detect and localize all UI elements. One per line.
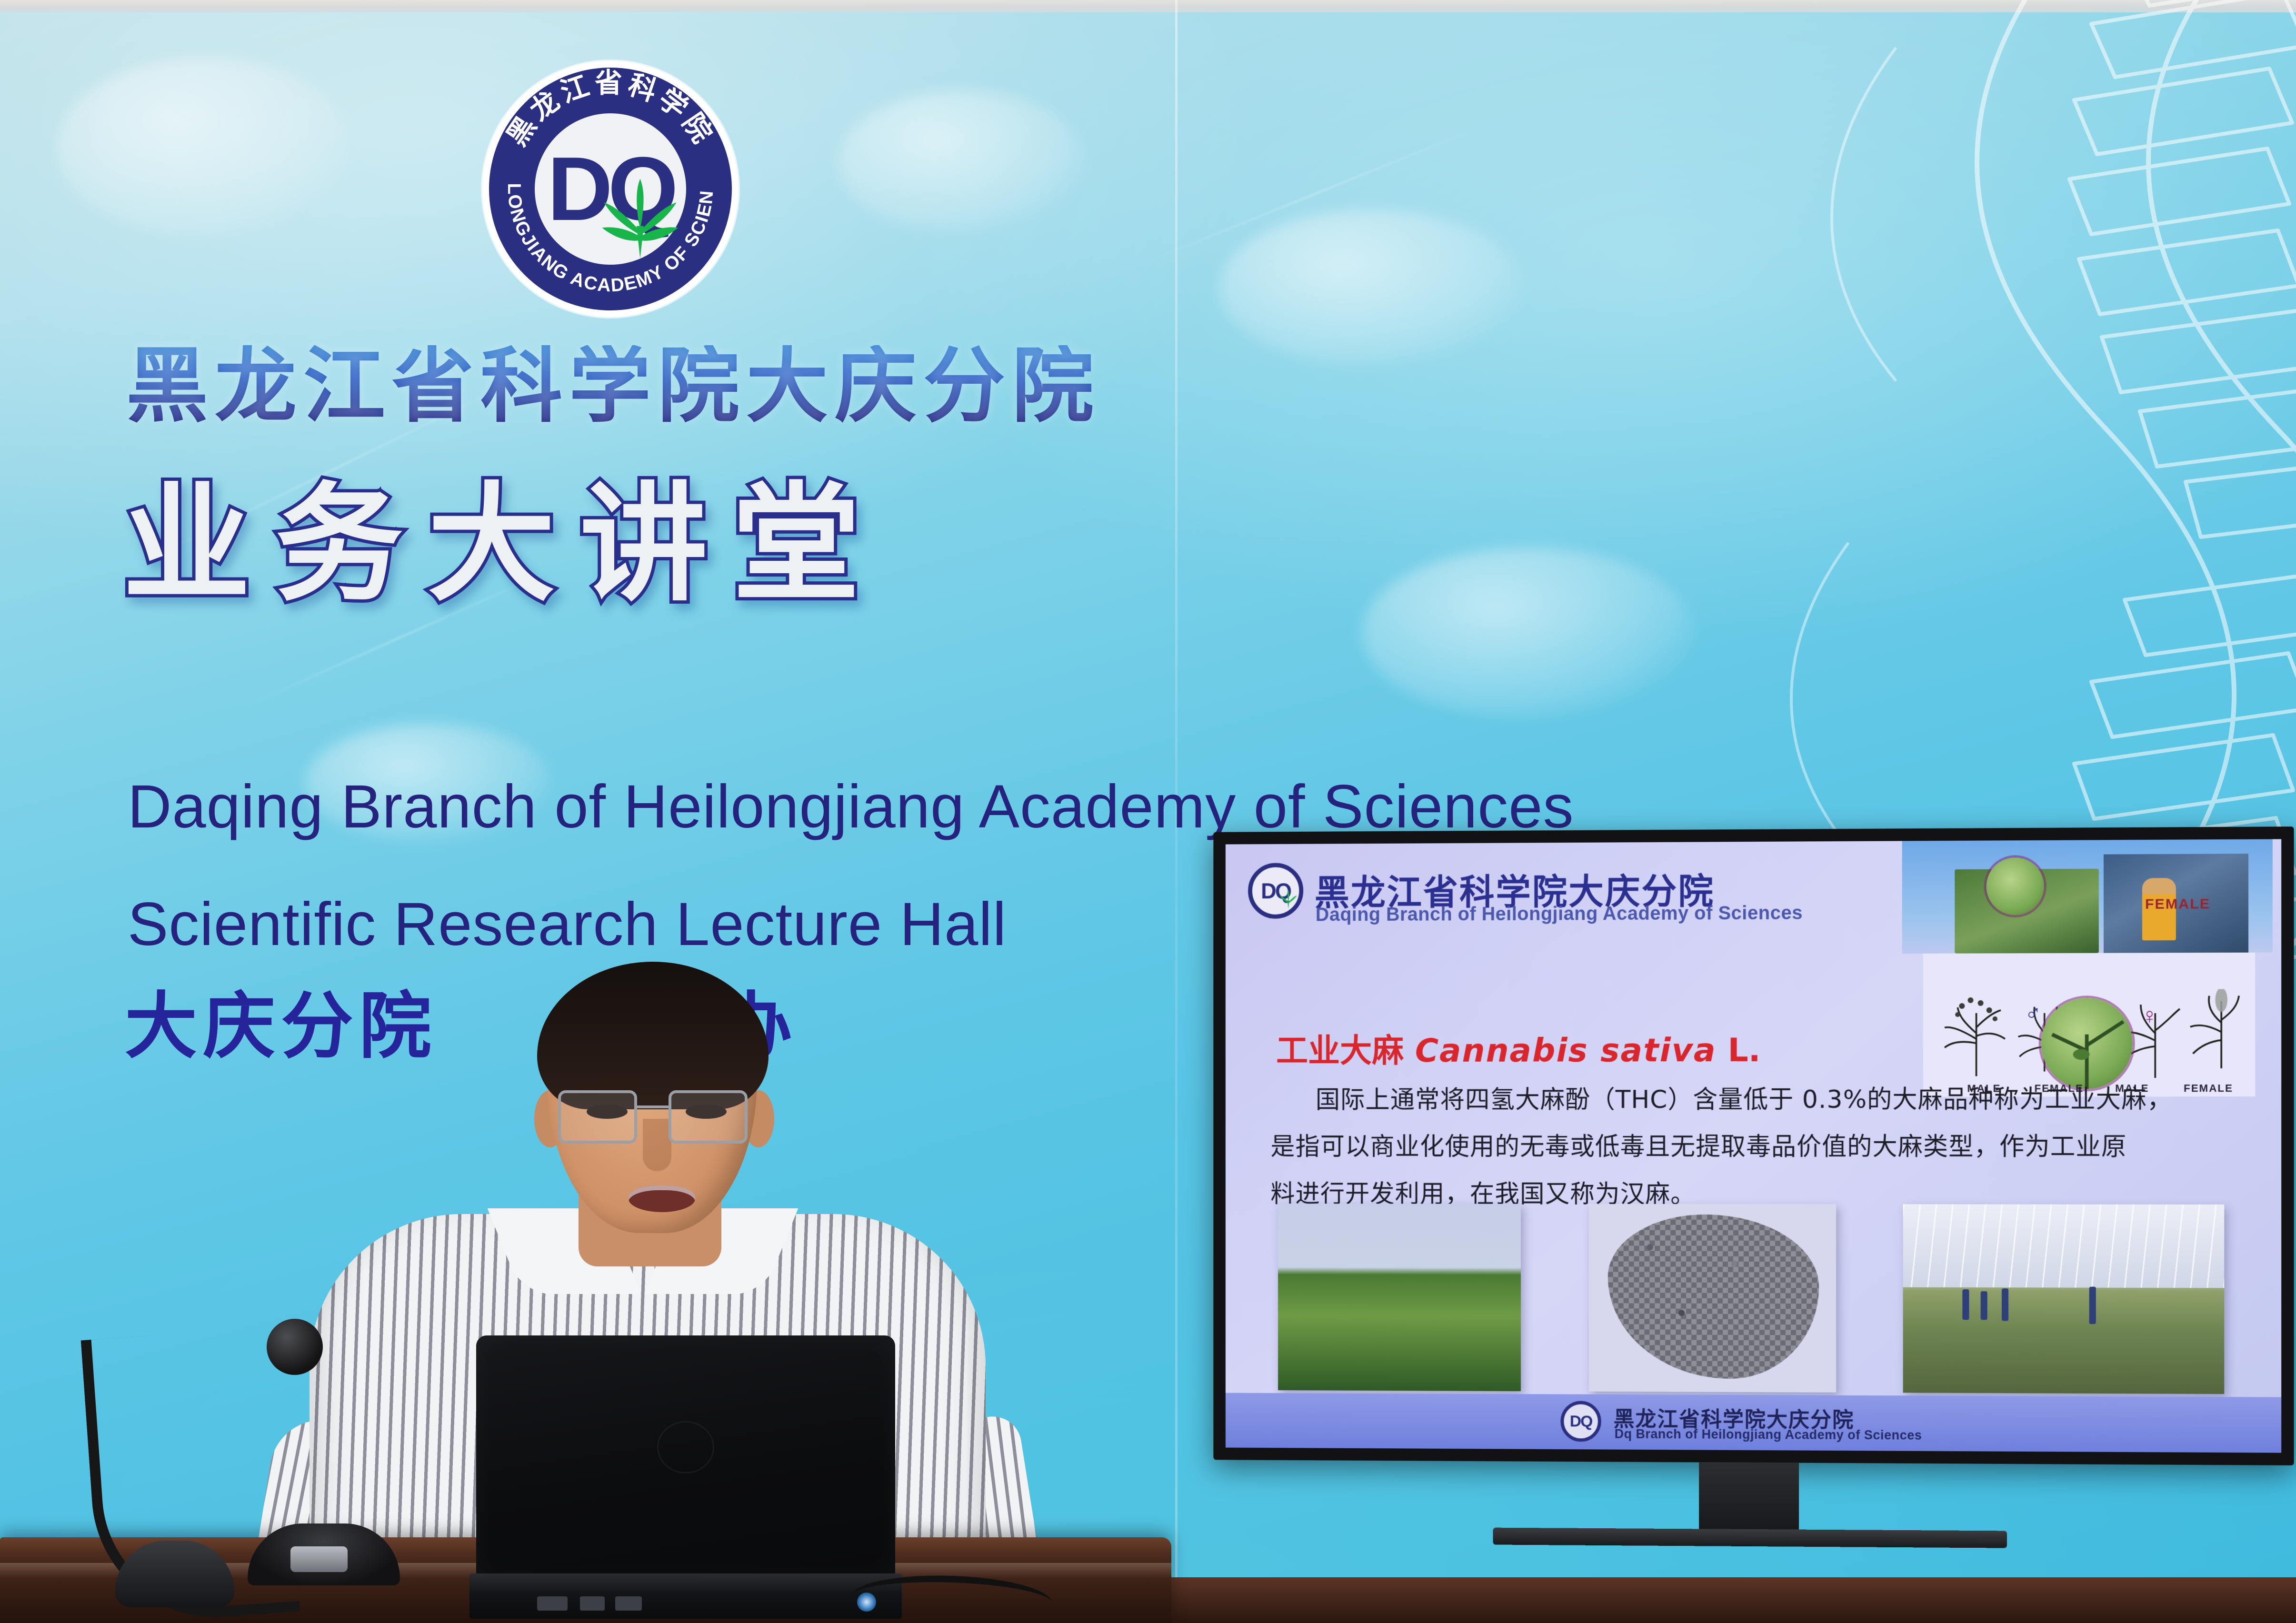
slide-logo: DQ: [1248, 863, 1303, 919]
slide-body-text: 国际上通常将四氢大麻酚（THC）含量低于 0.3%的大麻品种称为工业大麻， 是指…: [1270, 1078, 2251, 1222]
presentation-slide: DQ 黑龙江省科学院大庆分院 Daqing Branch of Heilongj…: [1226, 839, 2281, 1453]
diagram-female-plant-right: [2187, 989, 2255, 1078]
lecture-photo-scene: 黑龙江省科学院 HEILONGJIANG ACADEMY OF SCIENCES…: [0, 0, 2296, 1623]
diagram-top-label: FEMALE: [2145, 896, 2210, 913]
warehouse-worker: [2089, 1287, 2096, 1324]
desk-surface-right: [1143, 1577, 2296, 1623]
laptop-usb-port: [615, 1596, 642, 1611]
slide-photo-strip: [1278, 1204, 2225, 1394]
backdrop-bokeh: [838, 90, 1086, 233]
tv-stand-base: [1493, 1528, 2007, 1548]
female-symbol-icon: ♀: [2141, 1005, 2158, 1026]
laptop-logo-badge: [657, 1421, 714, 1474]
laptop-lid: [476, 1335, 895, 1578]
banner-main-title: 业务大讲堂: [123, 481, 885, 608]
slide-footer-logo: DQ: [1560, 1401, 1601, 1442]
warehouse-worker: [1981, 1291, 1987, 1320]
hemp-field-photo: [1278, 1204, 1521, 1391]
slide-title-authority: L.: [1727, 1032, 1760, 1069]
backdrop-bokeh: [57, 57, 352, 238]
laptop-ethernet-port: [537, 1596, 568, 1611]
slide-body-line-2: 是指可以商业化使用的无毒或低毒且无提取毒品价值的大麻类型，作为工业原: [1270, 1126, 2251, 1169]
slide-title: 工业大麻 Cannabis sativa L.: [1276, 1024, 1760, 1071]
slide-footer: DQ 黑龙江省科学院大庆分院 Dq Branch of Heilongjiang…: [1226, 1393, 2281, 1453]
diagram-center-magnifier: [2041, 998, 2133, 1089]
eyeglass-lens-right: [669, 1090, 748, 1144]
hemp-seeds-photo: [1589, 1204, 1836, 1393]
male-symbol-icon: ♂: [2025, 1001, 2041, 1023]
slide-body-line-1: 国际上通常将四氢大麻酚（THC）含量低于 0.3%的大麻品种称为工业大麻，: [1270, 1078, 2251, 1122]
warehouse-roof: [1903, 1204, 2225, 1288]
banner-english-line-1: Daqing Branch of Heilongjiang Academy of…: [128, 777, 1574, 837]
slide-footer-english: Dq Branch of Heilongjiang Academy of Sci…: [1615, 1427, 1922, 1443]
laptop[interactable]: [476, 1335, 895, 1621]
backdrop-bokeh: [1219, 209, 1524, 367]
slide-header-english: Daqing Branch of Heilongjiang Academy of…: [1316, 903, 1803, 926]
presentation-tv: DQ 黑龙江省科学院大庆分院 Daqing Branch of Heilongj…: [1213, 826, 2294, 1465]
microphone-switch[interactable]: [290, 1546, 348, 1572]
banner-english-line-2: Scientific Research Lecture Hall: [128, 894, 1007, 955]
microphone-capsule: [267, 1319, 323, 1375]
cannabis-leaf-icon: [595, 175, 686, 251]
hemp-drying-warehouse-photo: [1903, 1204, 2225, 1394]
seed-pile: [1608, 1215, 1819, 1379]
warehouse-worker: [1962, 1289, 1969, 1320]
slide-title-chinese: 工业大麻: [1276, 1032, 1404, 1070]
laptop-hinge: [469, 1573, 902, 1619]
academy-logo-badge: 黑龙江省科学院 HEILONGJIANG ACADEMY OF SCIENCES…: [482, 61, 739, 317]
diagram-male-plant: [1940, 992, 2012, 1078]
speaker-mouth: [629, 1185, 695, 1212]
slide-footer-monogram: DQ: [1564, 1404, 1598, 1438]
eyeglass-lens-left: [558, 1090, 637, 1144]
cannabis-sex-diagram: FEMALE: [1902, 839, 2273, 1108]
diagram-top-magnifier: [1987, 857, 2044, 915]
warehouse-worker: [2002, 1288, 2008, 1321]
cannabis-leaf-icon: [1278, 889, 1299, 908]
eyeglass-bridge: [637, 1105, 669, 1108]
banner-organization-line: 黑龙江省科学院大庆分院: [126, 345, 1100, 427]
slide-title-scientific-name: Cannabis sativa: [1415, 1032, 1717, 1070]
laptop-vga-port: [580, 1596, 605, 1611]
eyeglasses: [558, 1090, 749, 1145]
tv-stand-neck: [1699, 1462, 1799, 1534]
